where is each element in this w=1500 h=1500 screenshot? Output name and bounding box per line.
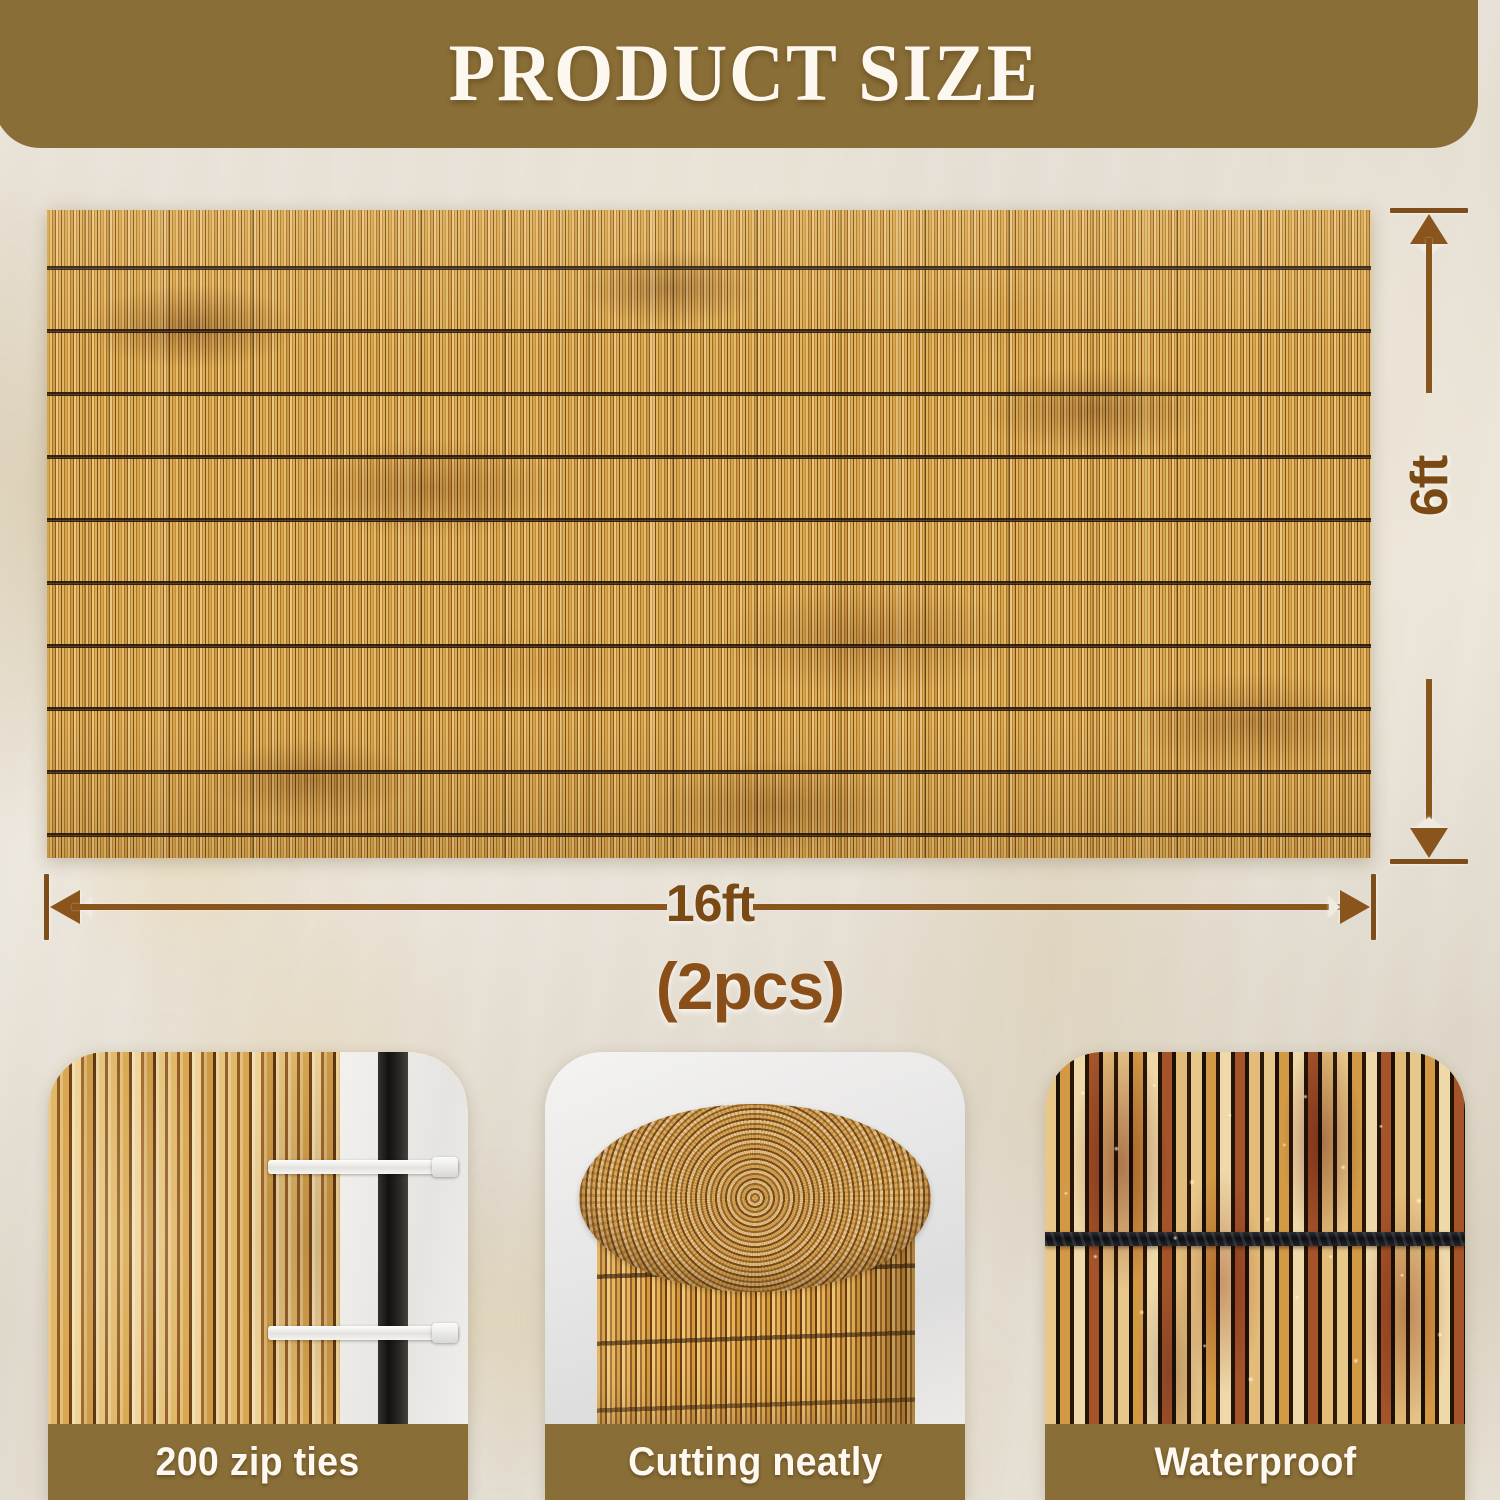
height-dimension-arrow: 6ft (1388, 208, 1472, 864)
feature-photo-waterproof (1045, 1052, 1465, 1424)
feature-photo-cutting (545, 1052, 965, 1424)
height-shaft-upper (1426, 238, 1432, 393)
reed-roll-cut-end-grain (579, 1104, 931, 1292)
zip-tie-head-icon (432, 1157, 458, 1177)
arrow-down-icon (1410, 828, 1448, 858)
zip-tie-head-icon (432, 1323, 458, 1343)
feature-caption-text: 200 zip ties (156, 1440, 360, 1485)
height-label: 6ft (1400, 442, 1460, 530)
height-tick-top-icon (1390, 208, 1468, 213)
height-shaft-lower (1426, 679, 1432, 834)
page-title: PRODUCT SIZE (432, 26, 1040, 114)
feature-photo-zip-ties (48, 1052, 468, 1424)
feature-caption-bar-cutting: Cutting neatly (545, 1424, 965, 1500)
feature-card-row: 200 zip ties Cutting neatly Waterproof (0, 1052, 1500, 1500)
feature-caption-text: Waterproof (1154, 1440, 1356, 1485)
panel-edge-shading (47, 210, 1371, 858)
black-fence-post (378, 1052, 408, 1424)
feature-card-waterproof[interactable]: Waterproof (1045, 1052, 1465, 1500)
pieces-count-label: (2pcs) (0, 948, 1500, 1024)
width-dimension-arrow: 16ft (44, 872, 1376, 944)
feature-caption-bar-waterproof: Waterproof (1045, 1424, 1465, 1500)
zip-tie-lower-icon (268, 1326, 458, 1340)
header-banner: PRODUCT SIZE (0, 0, 1478, 148)
feature-card-cutting[interactable]: Cutting neatly (545, 1052, 965, 1500)
zip-tie-upper-icon (268, 1160, 458, 1174)
width-label: 16ft (44, 874, 1376, 934)
height-tick-bottom-icon (1390, 859, 1468, 864)
feature-caption-text: Cutting neatly (628, 1440, 883, 1485)
product-image-reed-fence (47, 210, 1371, 858)
feature-card-zip-ties[interactable]: 200 zip ties (48, 1052, 468, 1500)
water-droplets-icon (1045, 1052, 1465, 1424)
feature-caption-bar-zip-ties: 200 zip ties (48, 1424, 468, 1500)
